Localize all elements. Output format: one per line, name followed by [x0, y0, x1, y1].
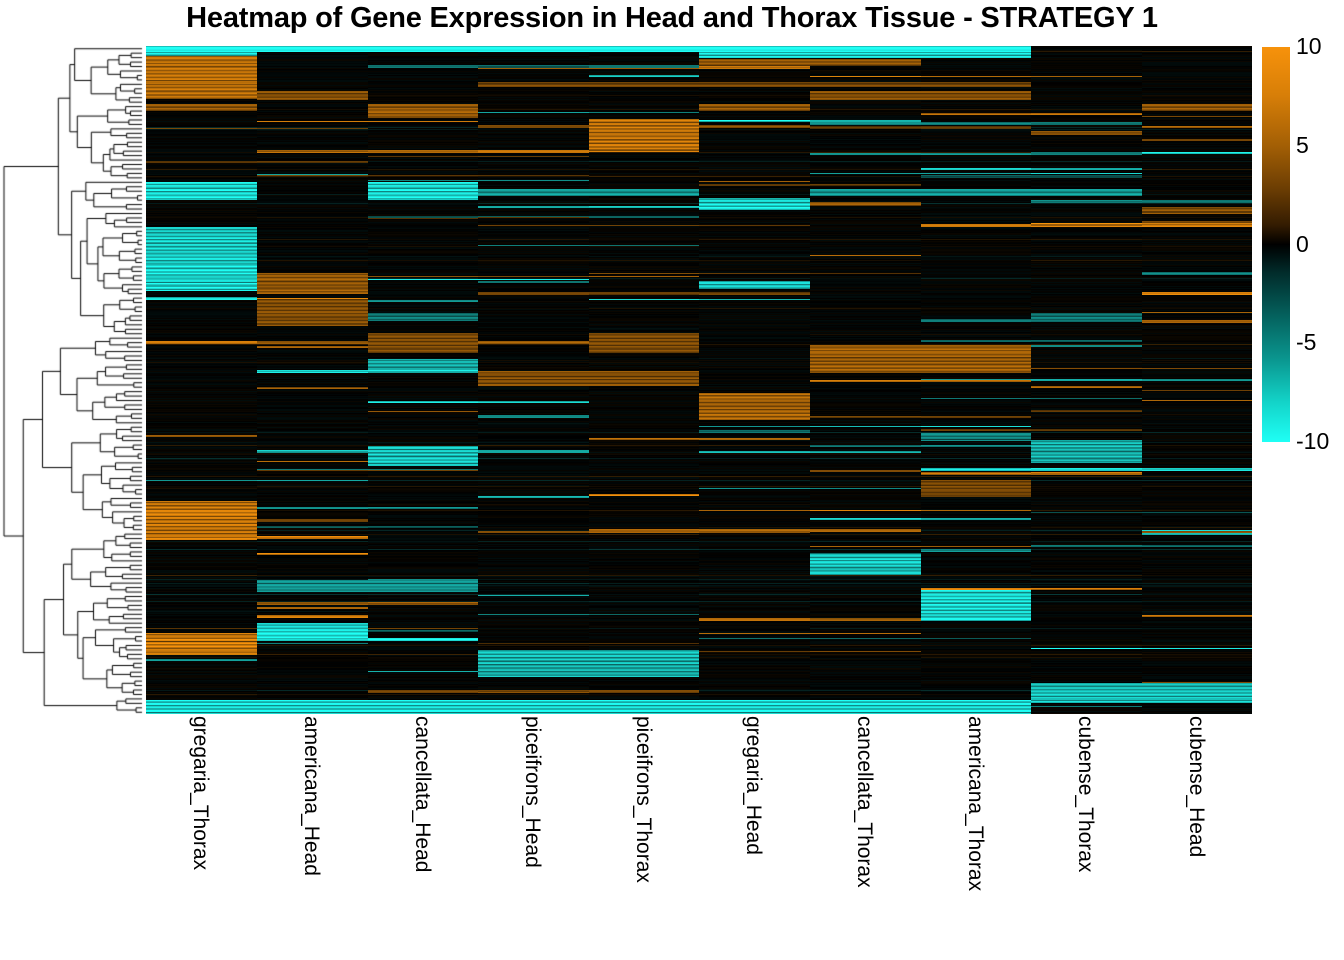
column-label-piceifrons-thorax: piceifrons_Thorax — [632, 716, 654, 956]
column-label-gregaria-head: gregaria_Head — [742, 716, 764, 956]
column-label-cubense-thorax: cubense_Thorax — [1074, 716, 1096, 956]
heatmap-grid — [146, 46, 1252, 714]
colorbar-tick-label: -5 — [1296, 331, 1316, 354]
column-labels: gregaria_Thoraxamericana_Headcancellata_… — [146, 716, 1252, 956]
row-dendrogram — [2, 46, 146, 714]
heatmap-panel — [146, 46, 1252, 714]
heatmap-figure: Heatmap of Gene Expression in Head and T… — [0, 0, 1344, 960]
column-label-gregaria-thorax: gregaria_Thorax — [189, 716, 211, 956]
column-label-cancellata-head: cancellata_Head — [411, 716, 433, 956]
column-label-cancellata-thorax: cancellata_Thorax — [853, 716, 875, 956]
colorbar-tick-label: -10 — [1296, 430, 1329, 453]
column-label-cubense-head: cubense_Head — [1185, 716, 1207, 956]
page-title: Heatmap of Gene Expression in Head and T… — [0, 2, 1344, 35]
colorbar-gradient — [1262, 47, 1290, 442]
colorbar-tick-label: 0 — [1296, 233, 1309, 256]
column-label-piceifrons-head: piceifrons_Head — [521, 716, 543, 956]
colorbar-tick-label: 5 — [1296, 134, 1309, 157]
colorbar-tick-label: 10 — [1296, 35, 1322, 58]
column-label-americana-thorax: americana_Thorax — [964, 716, 986, 956]
column-label-americana-head: americana_Head — [300, 716, 322, 956]
